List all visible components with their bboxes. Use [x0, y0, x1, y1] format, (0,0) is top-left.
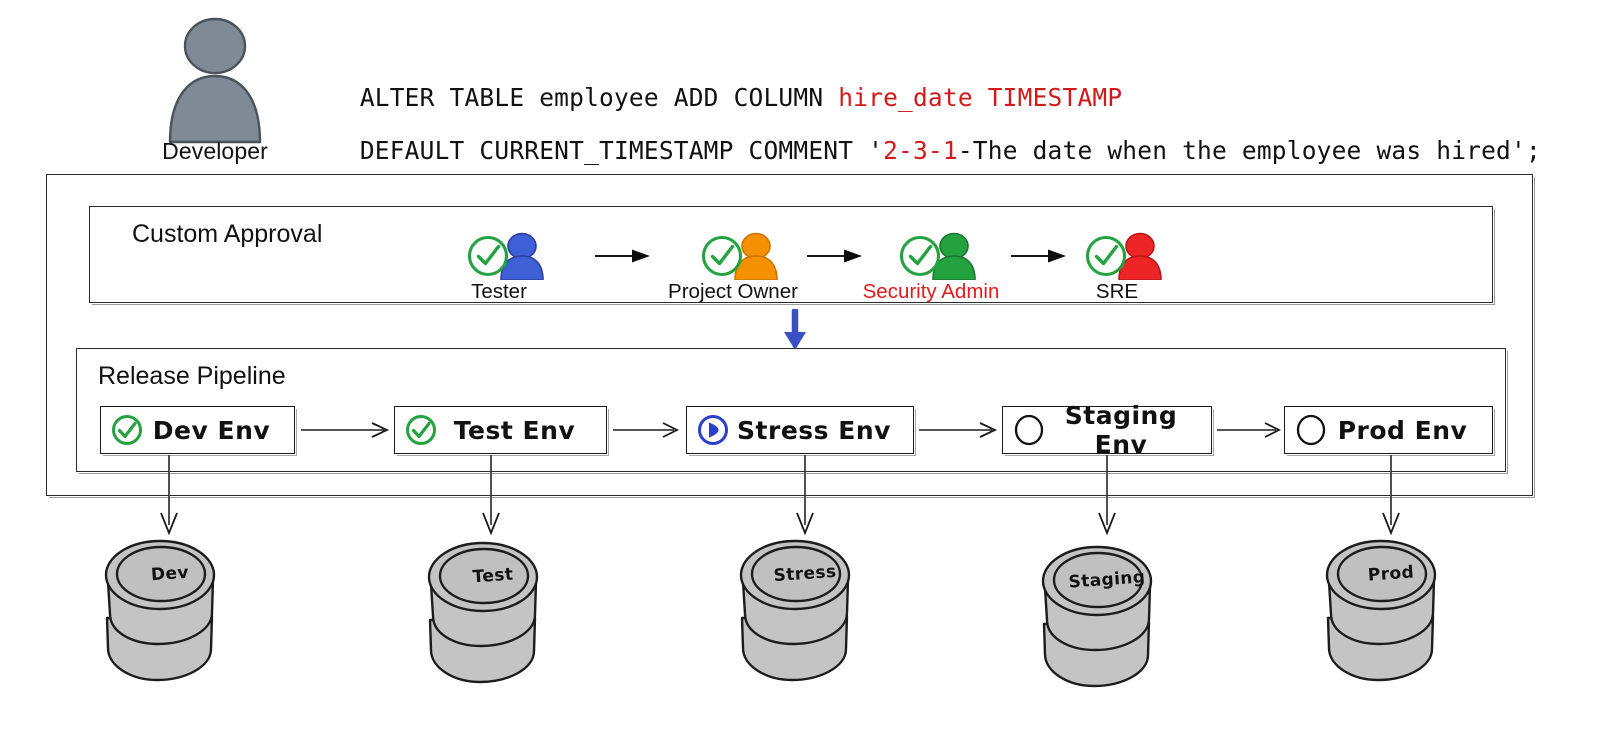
approver-name: Project Owner	[658, 280, 808, 304]
pipeline-stage-dev-env[interactable]: Dev Env	[100, 406, 295, 454]
arrow-right-icon	[300, 421, 390, 439]
approval-arrow-1	[594, 248, 652, 264]
check-circle-icon	[405, 414, 437, 446]
empty-circle-icon	[1295, 414, 1327, 446]
approver-name: Security Admin	[856, 280, 1006, 304]
drop-arrow-test	[478, 455, 504, 535]
empty-circle-icon	[1013, 414, 1045, 446]
arrow-right-icon	[918, 421, 998, 439]
arrow-down-icon	[778, 309, 812, 351]
check-circle-icon	[1042, 228, 1192, 280]
pipeline-stage-label: Stress Env	[729, 416, 913, 445]
play-circle-icon	[697, 414, 729, 446]
approver-glyphs	[856, 228, 1006, 280]
approver-security-admin[interactable]: Security Admin	[856, 228, 1006, 306]
pipeline-stage-staging-env[interactable]: Staging Env	[1002, 406, 1212, 454]
pipeline-arrow-4	[1216, 421, 1282, 439]
pipeline-arrow-1	[300, 421, 390, 439]
arrow-down-icon	[1094, 455, 1120, 535]
approver-glyphs	[424, 228, 574, 280]
arrow-right-icon	[594, 248, 652, 264]
arrow-right-icon	[1216, 421, 1282, 439]
pipeline-stage-label: Dev Env	[143, 416, 294, 445]
drop-arrow-dev	[156, 455, 182, 535]
approval-to-pipeline-arrow	[778, 309, 812, 351]
database-staging[interactable]: Staging	[1032, 536, 1182, 701]
pipeline-stage-label: Prod Env	[1327, 416, 1492, 445]
developer-label: Developer	[140, 138, 290, 165]
approver-tester[interactable]: Tester	[424, 228, 574, 306]
check-circle-icon	[658, 228, 808, 280]
drop-arrow-stress	[792, 455, 818, 535]
arrow-right-icon	[612, 421, 680, 439]
database-icon	[1316, 530, 1466, 695]
approver-name: Tester	[424, 280, 574, 304]
pipeline-stage-label: Test Env	[437, 416, 606, 445]
drop-arrow-staging	[1094, 455, 1120, 535]
approver-glyphs	[1042, 228, 1192, 280]
database-test[interactable]: Test	[418, 532, 568, 697]
database-dev[interactable]: Dev	[95, 530, 245, 695]
pipeline-stage-label: Staging Env	[1045, 401, 1211, 459]
pipeline-stage-stress-env[interactable]: Stress Env	[686, 406, 914, 454]
check-circle-icon	[424, 228, 574, 280]
sql-line2-highlight: 2-3-1	[883, 136, 958, 165]
database-icon	[730, 530, 880, 695]
database-stress[interactable]: Stress	[730, 530, 880, 695]
arrow-down-icon	[792, 455, 818, 535]
pipeline-stage-test-env[interactable]: Test Env	[394, 406, 607, 454]
pipeline-stage-prod-env[interactable]: Prod Env	[1284, 406, 1493, 454]
pipeline-arrow-2	[612, 421, 680, 439]
diagram-canvas: Developer ALTER TABLE employee ADD COLUM…	[0, 0, 1600, 734]
arrow-down-icon	[1378, 455, 1404, 535]
approver-glyphs	[658, 228, 808, 280]
approver-sre[interactable]: SRE	[1042, 228, 1192, 306]
custom-approval-title: Custom Approval	[132, 220, 322, 249]
database-prod[interactable]: Prod	[1316, 530, 1466, 695]
check-circle-icon	[856, 228, 1006, 280]
database-icon	[95, 530, 245, 695]
database-icon	[1032, 536, 1182, 701]
check-circle-icon	[111, 414, 143, 446]
drop-arrow-prod	[1378, 455, 1404, 535]
sql-line2-suffix: -The date when the employee was hired';	[958, 136, 1541, 165]
database-icon	[418, 532, 568, 697]
sql-line2-prefix: DEFAULT CURRENT_TIMESTAMP COMMENT '	[360, 136, 883, 165]
approver-project-owner[interactable]: Project Owner	[658, 228, 808, 306]
release-pipeline-title: Release Pipeline	[98, 362, 286, 391]
pipeline-arrow-3	[918, 421, 998, 439]
approver-name: SRE	[1042, 280, 1192, 304]
arrow-down-icon	[156, 455, 182, 535]
arrow-down-icon	[478, 455, 504, 535]
